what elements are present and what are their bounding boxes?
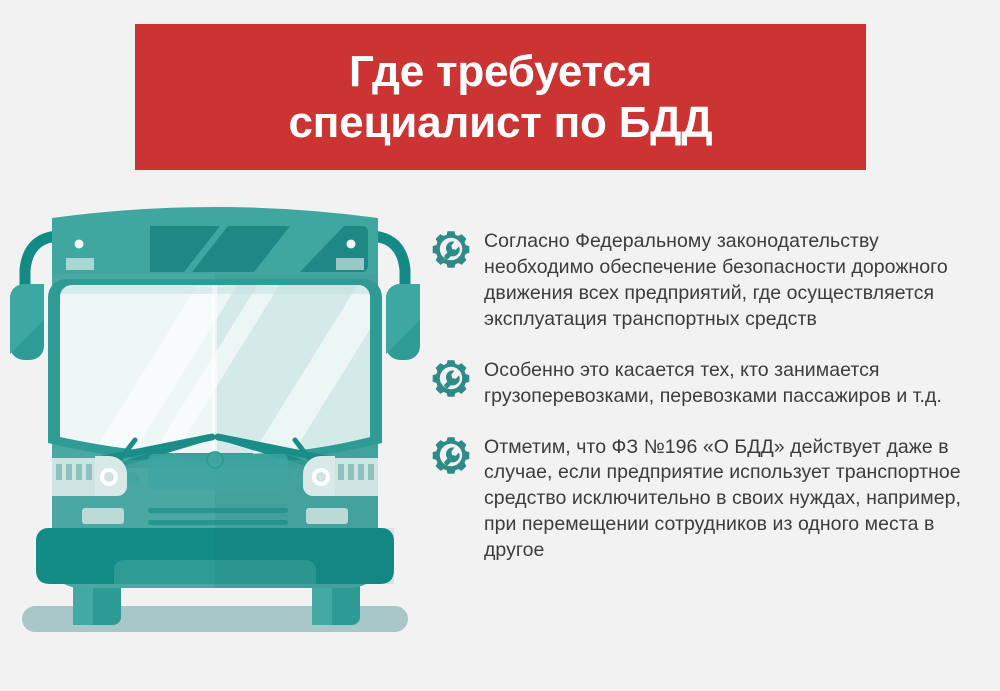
roof-marker-left [66,258,94,270]
bullet-list: Согласно Федеральному законодательству н… [432,228,988,564]
list-item-text: Отметим, что ФЗ №196 «О БДД» действует д… [484,434,988,565]
bus-destination-sign [62,226,368,272]
title-banner: Где требуется специалист по БДД [135,24,866,170]
bus-front-view-graphic [0,188,430,668]
gear-wrench-icon [432,359,470,397]
list-item: Согласно Федеральному законодательству н… [432,228,988,333]
page-title: Где требуется специалист по БДД [275,46,727,148]
roof-lamp-left [75,240,84,249]
roof-lamp-right [347,240,356,249]
gear-wrench-icon [432,436,470,474]
list-item-text: Согласно Федеральному законодательству н… [484,228,988,333]
bus-bumper [36,528,394,584]
windshield-glass [55,273,405,458]
roof-marker-right [336,258,364,270]
bus-illustration [0,188,430,668]
list-item-text: Особенно это касается тех, кто занимаетс… [484,357,988,410]
list-item: Отметим, что ФЗ №196 «О БДД» действует д… [432,434,988,565]
infographic-page: { "banner": { "title": "Где требуется\nс… [0,0,1000,691]
list-item: Особенно это касается тех, кто занимаетс… [432,357,988,410]
bus-center-vent [148,452,288,490]
gear-wrench-icon [432,230,470,268]
